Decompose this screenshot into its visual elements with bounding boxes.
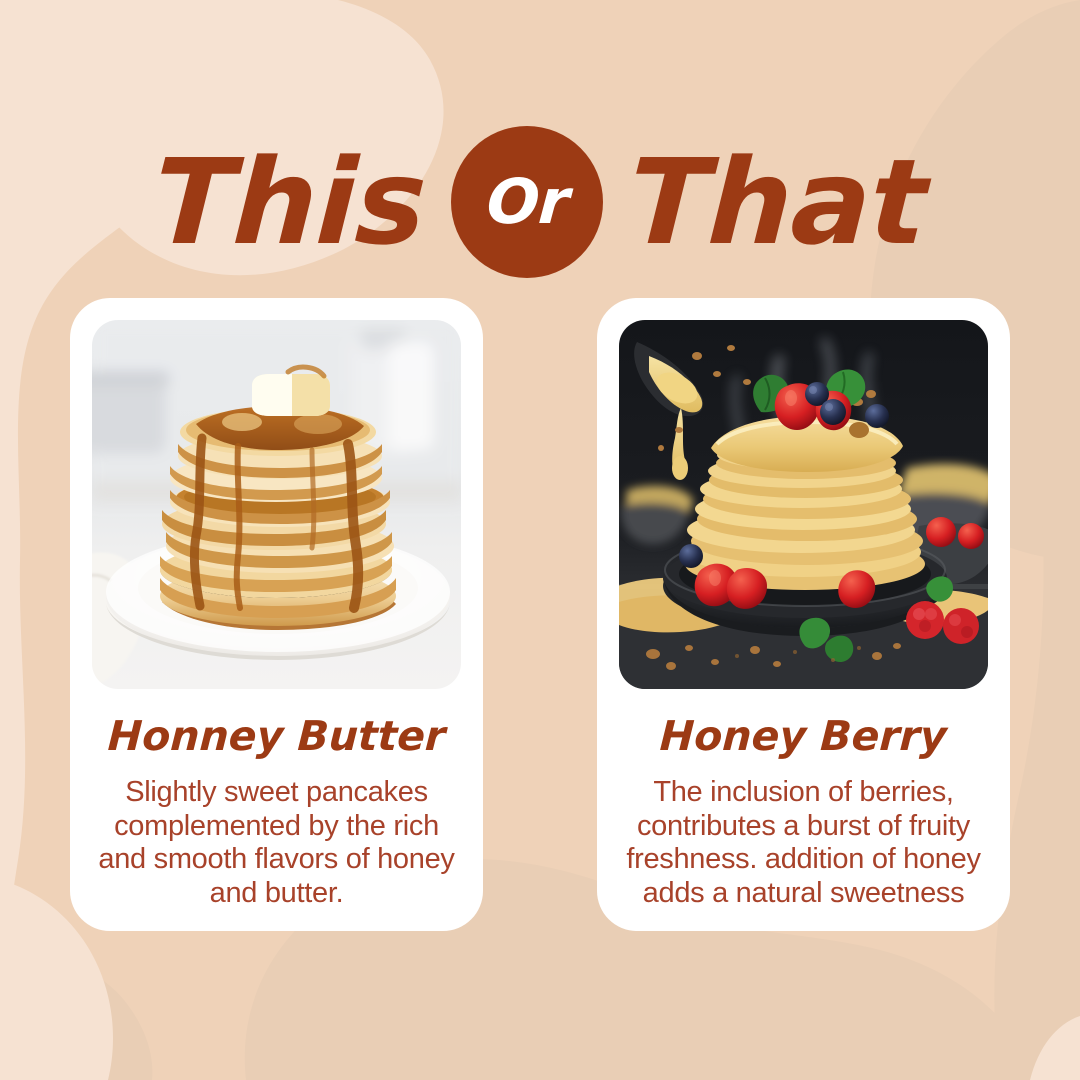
card-honney-butter[interactable]: Honney Butter Slightly sweet pancakes co… bbox=[70, 298, 483, 931]
card-description: Slightly sweet pancakes complemented by … bbox=[97, 776, 457, 911]
title-word-that: That bbox=[626, 143, 929, 261]
poster-root: This Or That bbox=[0, 0, 1080, 1080]
or-badge-label: Or bbox=[485, 171, 571, 233]
page-title: This Or That bbox=[154, 112, 926, 292]
card-title: Honey Berry bbox=[659, 715, 948, 758]
or-badge: Or bbox=[451, 126, 603, 278]
title-word-this: This bbox=[151, 143, 428, 261]
crepe-berry-photo bbox=[619, 320, 988, 689]
pancake-butter-photo bbox=[92, 320, 461, 689]
card-title: Honney Butter bbox=[107, 715, 447, 758]
card-description: The inclusion of berries, contributes a … bbox=[624, 776, 984, 911]
card-honey-berry[interactable]: Honey Berry The inclusion of berries, co… bbox=[597, 298, 1010, 931]
comparison-cards: Honney Butter Slightly sweet pancakes co… bbox=[70, 298, 1010, 931]
